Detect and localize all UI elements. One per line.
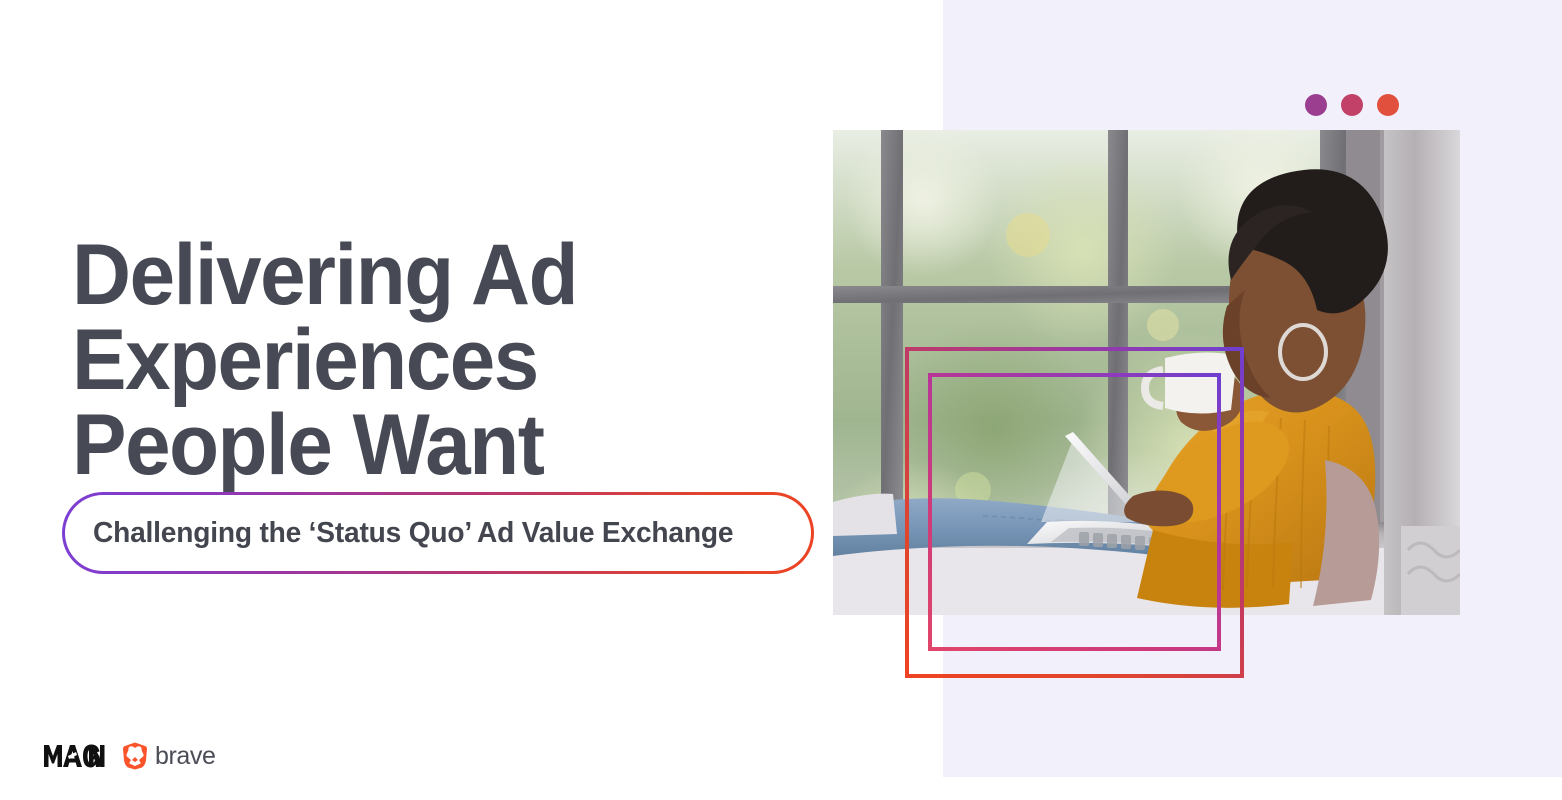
subtitle-pill: Challenging the ‘Status Quo’ Ad Value Ex… — [62, 492, 814, 574]
magna-logo — [44, 743, 110, 769]
brave-logo: brave — [122, 742, 216, 770]
dot-magenta-icon — [1341, 94, 1363, 116]
decorative-dots — [1305, 94, 1399, 116]
slide-root: { "slide": { "headline": "Delivering Ad\… — [0, 0, 1562, 800]
dot-red-icon — [1377, 94, 1399, 116]
subtitle-text: Challenging the ‘Status Quo’ Ad Value Ex… — [93, 517, 733, 550]
dot-purple-icon — [1305, 94, 1327, 116]
brave-logo-text: brave — [155, 744, 216, 769]
subtitle-pill-inner: Challenging the ‘Status Quo’ Ad Value Ex… — [65, 495, 811, 571]
brave-lion-shield-icon — [122, 742, 148, 770]
footer-logos: brave — [44, 742, 216, 770]
page-title: Delivering Ad Experiences People Want — [72, 233, 756, 488]
accent-rectangle-inner — [928, 373, 1221, 651]
